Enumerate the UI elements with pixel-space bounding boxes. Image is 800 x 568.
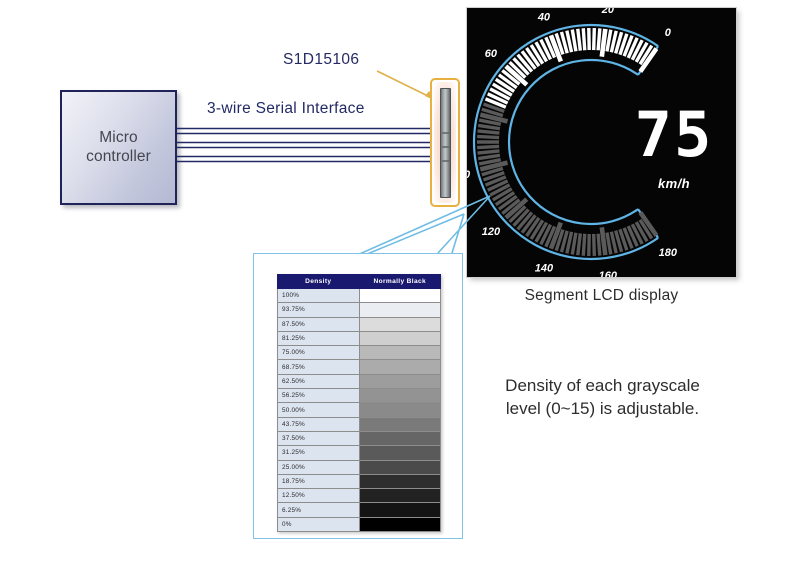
density-cell: 0% (278, 517, 360, 531)
table-row: 68.75% (278, 360, 441, 374)
density-cell: 87.50% (278, 317, 360, 331)
density-cell: 50.00% (278, 403, 360, 417)
grayscale-swatch (359, 346, 441, 360)
gauge-tick-label: 80 (467, 105, 468, 117)
table-row: 0% (278, 517, 441, 531)
table-row: 18.75% (278, 474, 441, 488)
table-row: 37.50% (278, 431, 441, 445)
gauge-tick-label: 0 (665, 27, 672, 39)
grayscale-swatch (359, 431, 441, 445)
grayscale-density-table: Density Normally Black 100%93.75%87.50%8… (277, 274, 441, 532)
gauge-tick-label: 120 (482, 226, 501, 238)
chip-pad-icon (442, 132, 449, 134)
grayscale-swatch (359, 503, 441, 517)
gauge-tick-label: 180 (659, 247, 678, 259)
density-cell: 81.25% (278, 331, 360, 345)
density-cell: 43.75% (278, 417, 360, 431)
table-row: 93.75% (278, 303, 441, 317)
grayscale-note: Density of each grayscale level (0~15) i… (470, 375, 735, 421)
table-header-row: Density Normally Black (278, 275, 441, 289)
density-cell: 12.50% (278, 489, 360, 503)
grayscale-swatch (359, 403, 441, 417)
speedometer-gauge: 020406080100120140160180 (467, 8, 736, 277)
grayscale-swatch (359, 489, 441, 503)
density-cell: 93.75% (278, 303, 360, 317)
gauge-tick-label: 40 (537, 12, 551, 24)
chip-pad-icon (442, 160, 449, 162)
table-row: 100% (278, 289, 441, 303)
table-row: 6.25% (278, 503, 441, 517)
density-cell: 56.25% (278, 389, 360, 403)
table-row: 43.75% (278, 417, 441, 431)
driver-chip-body (440, 88, 451, 198)
density-cell: 62.50% (278, 374, 360, 388)
density-cell: 75.00% (278, 346, 360, 360)
density-cell: 25.00% (278, 460, 360, 474)
grayscale-swatch (359, 474, 441, 488)
gauge-tick-label: 160 (599, 270, 618, 277)
grayscale-swatch (359, 360, 441, 374)
grayscale-swatch (359, 331, 441, 345)
density-cell: 100% (278, 289, 360, 303)
density-cell: 31.25% (278, 446, 360, 460)
grayscale-swatch (359, 303, 441, 317)
density-cell: 18.75% (278, 474, 360, 488)
gauge-tick-label: 20 (601, 8, 615, 16)
chip-pad-icon (442, 146, 449, 148)
density-cell: 6.25% (278, 503, 360, 517)
lcd-caption: Segment LCD display (467, 287, 736, 305)
grayscale-swatch (359, 446, 441, 460)
grayscale-swatch (359, 317, 441, 331)
grayscale-swatch (359, 389, 441, 403)
table-row: 87.50% (278, 317, 441, 331)
column-header-normally-black: Normally Black (359, 275, 441, 289)
grayscale-swatch (359, 517, 441, 531)
grayscale-swatch (359, 374, 441, 388)
grayscale-swatch (359, 417, 441, 431)
gauge-tick-label: 140 (535, 262, 554, 274)
diagram-canvas: Micro controller 3-wire Serial Interface… (0, 0, 800, 568)
table-row: 31.25% (278, 446, 441, 460)
table-row: 25.00% (278, 460, 441, 474)
grayscale-table-body: 100%93.75%87.50%81.25%75.00%68.75%62.50%… (278, 289, 441, 532)
grayscale-swatch (359, 460, 441, 474)
table-row: 62.50% (278, 374, 441, 388)
grayscale-swatch (359, 289, 441, 303)
table-row: 75.00% (278, 346, 441, 360)
gauge-tick-label: 100 (467, 169, 471, 181)
table-row: 12.50% (278, 489, 441, 503)
table-row: 50.00% (278, 403, 441, 417)
density-cell: 37.50% (278, 431, 360, 445)
gauge-tick-label: 60 (485, 48, 498, 60)
column-header-density: Density (278, 275, 360, 289)
table-row: 56.25% (278, 389, 441, 403)
density-cell: 68.75% (278, 360, 360, 374)
segment-lcd-panel: 020406080100120140160180 75 km/h (467, 8, 736, 277)
table-row: 81.25% (278, 331, 441, 345)
